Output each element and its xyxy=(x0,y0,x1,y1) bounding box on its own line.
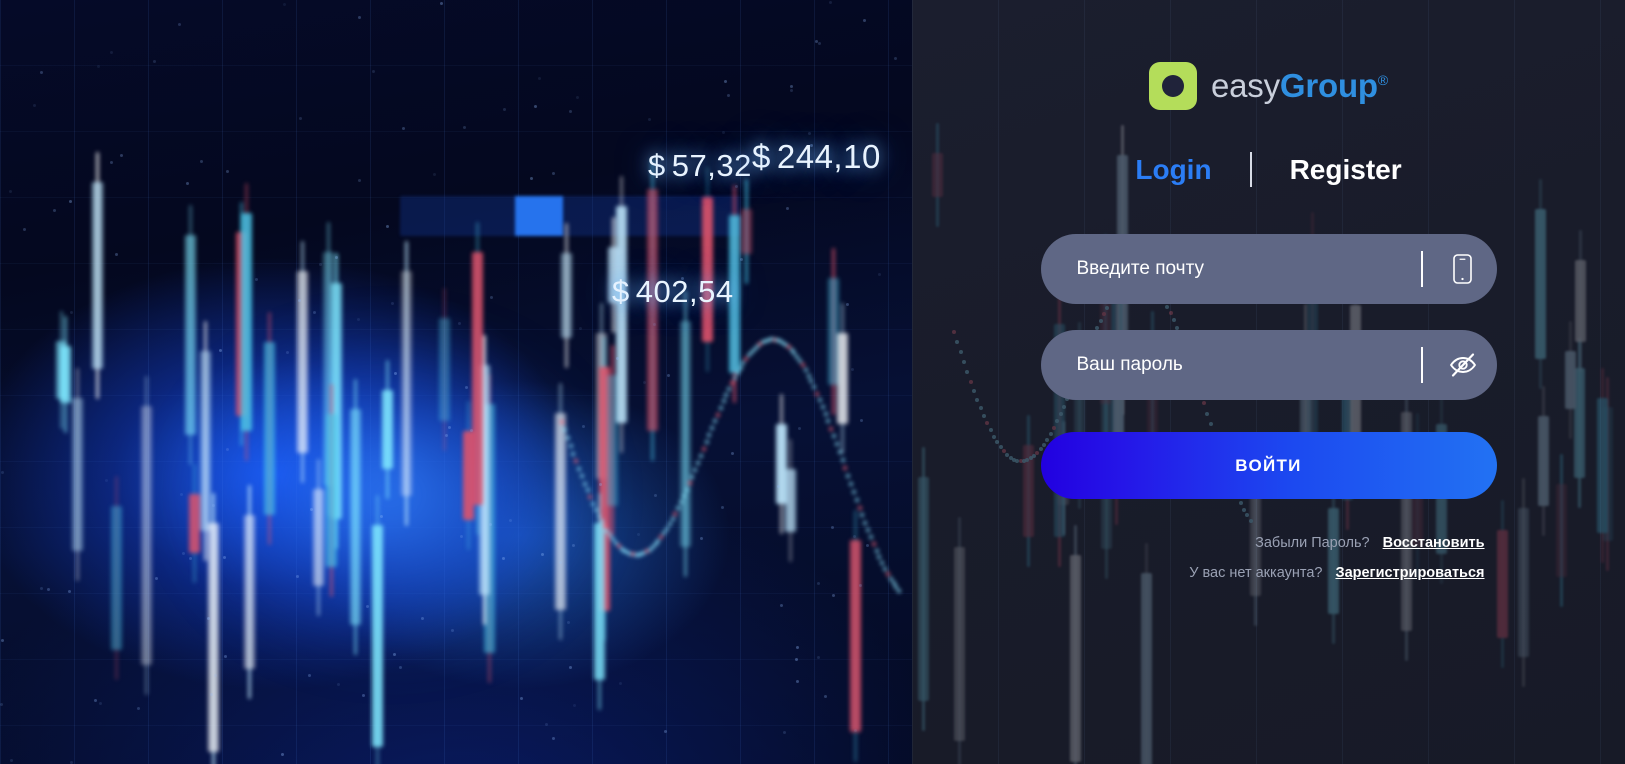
background-dot xyxy=(490,296,493,299)
background-dot xyxy=(358,179,361,182)
background-dot xyxy=(226,448,229,451)
background-dot xyxy=(619,682,622,685)
background-dot xyxy=(783,731,786,734)
background-dot xyxy=(53,209,56,212)
background-dot xyxy=(667,374,670,377)
background-dot xyxy=(40,587,43,590)
background-dot xyxy=(9,190,12,193)
background-dot xyxy=(582,425,585,428)
background-dot xyxy=(460,535,463,538)
login-screen: $57,32$244,10$402,54 easyGroup® Login Re… xyxy=(0,0,1625,764)
background-dot xyxy=(796,680,799,683)
background-dot xyxy=(281,753,284,756)
candlestick-body xyxy=(1141,573,1152,764)
hero-panel: $57,32$244,10$402,54 xyxy=(0,0,912,764)
background-dot xyxy=(393,653,396,656)
background-dot xyxy=(97,65,100,68)
background-dot xyxy=(654,494,657,497)
background-dot xyxy=(212,504,215,507)
background-dot xyxy=(299,406,302,409)
background-dot xyxy=(224,655,227,658)
background-dot xyxy=(362,694,365,697)
background-dot xyxy=(576,96,579,99)
background-dot xyxy=(829,1,832,4)
background-dot xyxy=(509,519,512,522)
background-dot xyxy=(860,419,863,422)
background-dot xyxy=(70,311,73,314)
registered-trademark-icon: ® xyxy=(1378,72,1388,88)
background-dot xyxy=(210,693,213,696)
password-field-divider xyxy=(1421,347,1423,383)
email-field[interactable] xyxy=(1041,234,1497,304)
background-dot xyxy=(817,656,820,659)
background-dot xyxy=(572,544,575,547)
background-dot xyxy=(489,523,492,526)
password-input[interactable] xyxy=(1041,330,1421,400)
background-dot xyxy=(186,182,189,185)
background-dot xyxy=(153,60,156,63)
login-submit-button[interactable]: ВОЙТИ xyxy=(1041,432,1497,499)
background-dot xyxy=(386,225,389,228)
background-dot xyxy=(214,674,217,677)
background-dot xyxy=(155,577,158,580)
background-dot xyxy=(286,351,289,354)
background-dot xyxy=(335,256,338,259)
background-dot xyxy=(503,108,506,111)
background-dot xyxy=(298,299,301,302)
background-dot xyxy=(23,228,26,231)
auth-panel: easyGroup® Login Register xyxy=(912,0,1625,764)
background-dot xyxy=(831,526,834,529)
background-dot xyxy=(552,737,555,740)
phone-icon[interactable] xyxy=(1443,254,1483,284)
background-dot xyxy=(463,126,466,129)
background-dot xyxy=(894,57,897,60)
background-dot xyxy=(182,552,185,555)
background-dot xyxy=(700,537,703,540)
candlestick-body xyxy=(1070,555,1081,761)
background-dot xyxy=(380,515,383,518)
background-dot xyxy=(10,759,13,762)
background-dot xyxy=(545,723,548,726)
price-label-2: $402,54 xyxy=(612,274,734,310)
price-label-0: $57,32 xyxy=(648,148,752,184)
background-dot xyxy=(440,2,443,5)
background-dot xyxy=(643,381,646,384)
background-dot xyxy=(866,544,869,547)
background-dot xyxy=(470,429,473,432)
background-dot xyxy=(445,434,448,437)
forgot-password-label: Забыли Пароль? xyxy=(1255,535,1370,551)
background-dot xyxy=(308,674,311,677)
background-dot xyxy=(859,584,862,587)
background-dot xyxy=(200,160,203,163)
background-dot xyxy=(1,471,4,474)
eye-off-icon[interactable] xyxy=(1443,352,1483,378)
background-dot xyxy=(372,70,375,73)
background-dot xyxy=(465,386,468,389)
background-dot xyxy=(780,604,783,607)
background-dot xyxy=(402,127,405,130)
background-dot xyxy=(854,729,857,732)
background-dot xyxy=(399,666,402,669)
background-dot xyxy=(579,327,582,330)
background-dot xyxy=(99,702,102,705)
hero-dot-grid xyxy=(0,0,912,764)
background-dot xyxy=(731,452,734,455)
background-dot xyxy=(567,621,570,624)
auth-links: Забыли Пароль? Восстановить У вас нет ак… xyxy=(1041,535,1497,581)
background-dot xyxy=(863,19,866,22)
auth-tabs: Login Register xyxy=(912,152,1625,187)
background-dot xyxy=(110,161,113,164)
background-dot xyxy=(795,658,798,661)
no-account-label: У вас нет аккаунта? xyxy=(1189,565,1322,581)
background-dot xyxy=(853,535,856,538)
background-dot xyxy=(502,557,505,560)
background-dot xyxy=(616,357,619,360)
background-dot xyxy=(724,80,727,83)
background-dot xyxy=(0,703,3,706)
background-dot xyxy=(569,110,572,113)
background-dot xyxy=(255,278,258,281)
price-label-1: $244,10 xyxy=(752,138,881,176)
background-dot xyxy=(394,372,397,375)
background-dot xyxy=(421,617,424,620)
background-dot xyxy=(798,427,801,430)
background-dot xyxy=(878,273,881,276)
background-dot xyxy=(296,575,299,578)
background-dot xyxy=(180,493,183,496)
background-dot xyxy=(137,707,140,710)
background-dot xyxy=(777,485,780,488)
background-dot xyxy=(283,3,286,6)
background-dot xyxy=(105,479,108,482)
background-dot xyxy=(790,85,793,88)
signup-row: У вас нет аккаунта? Зарегистрироваться xyxy=(1041,565,1485,581)
background-dot xyxy=(110,51,113,54)
background-dot xyxy=(538,77,541,80)
background-dot xyxy=(178,23,181,26)
background-dot xyxy=(33,104,36,107)
background-dot xyxy=(337,683,340,686)
background-dot xyxy=(790,89,793,92)
forgot-password-row: Забыли Пароль? Восстановить xyxy=(1041,535,1485,551)
background-dot xyxy=(599,483,602,486)
background-dot xyxy=(226,170,229,173)
background-dot xyxy=(664,730,667,733)
background-dot xyxy=(727,94,730,97)
background-dot xyxy=(120,154,123,157)
background-dot xyxy=(69,200,72,203)
brand-name-bold: Group xyxy=(1280,67,1378,104)
background-dot xyxy=(552,172,555,175)
background-dot xyxy=(448,426,451,429)
background-dot xyxy=(451,629,454,632)
background-dot xyxy=(358,16,361,19)
background-dot xyxy=(530,177,533,180)
background-dot xyxy=(851,368,854,371)
register-link[interactable]: Зарегистрироваться xyxy=(1335,565,1484,581)
background-dot xyxy=(818,42,821,45)
background-dot xyxy=(808,132,811,135)
brand-name-light: easy xyxy=(1211,67,1280,104)
background-dot xyxy=(520,697,523,700)
tab-register[interactable]: Register xyxy=(1252,154,1440,186)
background-dot xyxy=(310,508,313,511)
brand-wordmark: easyGroup® xyxy=(1211,67,1388,105)
background-dot xyxy=(115,253,118,256)
background-dot xyxy=(740,258,743,261)
login-form: ВОЙТИ xyxy=(1041,234,1497,499)
email-field-divider xyxy=(1421,251,1423,287)
background-dot xyxy=(223,556,226,559)
background-dot xyxy=(786,207,789,210)
background-dot xyxy=(846,303,849,306)
background-dot xyxy=(832,594,835,597)
background-dot xyxy=(299,117,302,120)
background-dot xyxy=(796,646,799,649)
background-dot xyxy=(391,302,394,305)
background-dot xyxy=(319,263,322,266)
logo-mark-icon xyxy=(1149,62,1197,110)
background-dot xyxy=(653,323,656,326)
background-dot xyxy=(313,311,316,314)
background-dot xyxy=(207,617,210,620)
background-dot xyxy=(219,349,222,352)
background-dot xyxy=(366,605,369,608)
background-dot xyxy=(722,131,725,134)
background-dot xyxy=(648,118,651,121)
background-dot xyxy=(569,666,572,669)
background-dot xyxy=(817,582,820,585)
background-dot xyxy=(541,553,544,556)
background-dot xyxy=(189,557,192,560)
background-dot xyxy=(637,533,640,536)
background-dot xyxy=(559,561,562,564)
background-dot xyxy=(357,318,360,321)
background-dot xyxy=(68,590,71,593)
recover-password-link[interactable]: Восстановить xyxy=(1383,535,1485,551)
background-dot xyxy=(433,173,436,176)
email-input[interactable] xyxy=(1041,234,1421,304)
background-dot xyxy=(721,506,724,509)
background-dot xyxy=(94,699,97,702)
background-dot xyxy=(735,185,738,188)
background-dot xyxy=(458,322,461,325)
password-field[interactable] xyxy=(1041,330,1497,400)
tab-login[interactable]: Login xyxy=(1097,154,1249,186)
background-dot xyxy=(824,695,827,698)
background-dot xyxy=(573,704,576,707)
background-dot xyxy=(40,71,43,74)
background-dot xyxy=(1,639,4,642)
background-dot xyxy=(47,588,50,591)
background-dot xyxy=(534,105,537,108)
brand-logo: easyGroup® xyxy=(912,62,1625,110)
